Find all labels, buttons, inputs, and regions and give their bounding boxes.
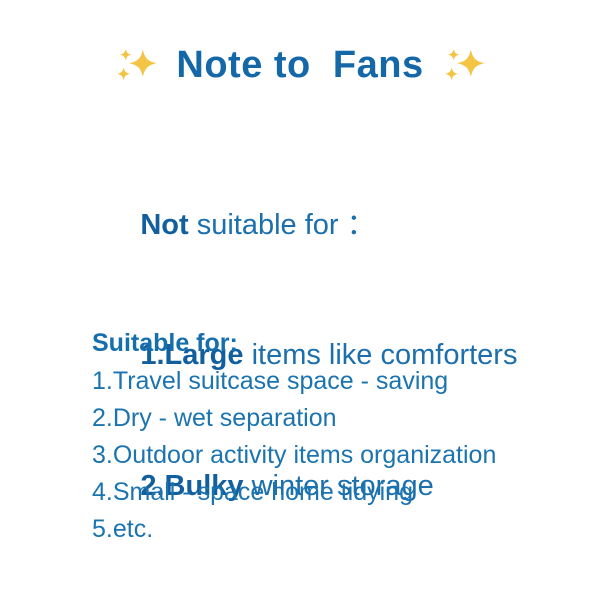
- not-suitable-heading: Not suitable for ：: [92, 160, 562, 291]
- suitable-item-3: 3.Outdoor activity items organization: [92, 437, 562, 474]
- suitable-item-4: 4.Small - space home tidying: [92, 474, 562, 511]
- not-suitable-heading-rest: suitable for ：: [189, 209, 376, 241]
- sparkles-icon-right: [442, 44, 486, 88]
- not-suitable-heading-bold: Not: [140, 209, 188, 241]
- suitable-item-2: 2.Dry - wet separation: [92, 400, 562, 437]
- note-to-fans-poster: Note to Fans Not suitable for ： 1.Large …: [0, 0, 600, 600]
- suitable-item-5: 5.etc.: [92, 511, 562, 548]
- suitable-item-1: 1.Travel suitcase space - saving: [92, 363, 562, 400]
- suitable-section: Suitable for: 1.Travel suitcase space - …: [92, 325, 562, 548]
- sparkles-icon-left: [114, 44, 158, 88]
- suitable-heading: Suitable for:: [92, 325, 562, 361]
- poster-title-row: Note to Fans: [0, 44, 600, 88]
- page-title: Note to Fans: [176, 45, 423, 87]
